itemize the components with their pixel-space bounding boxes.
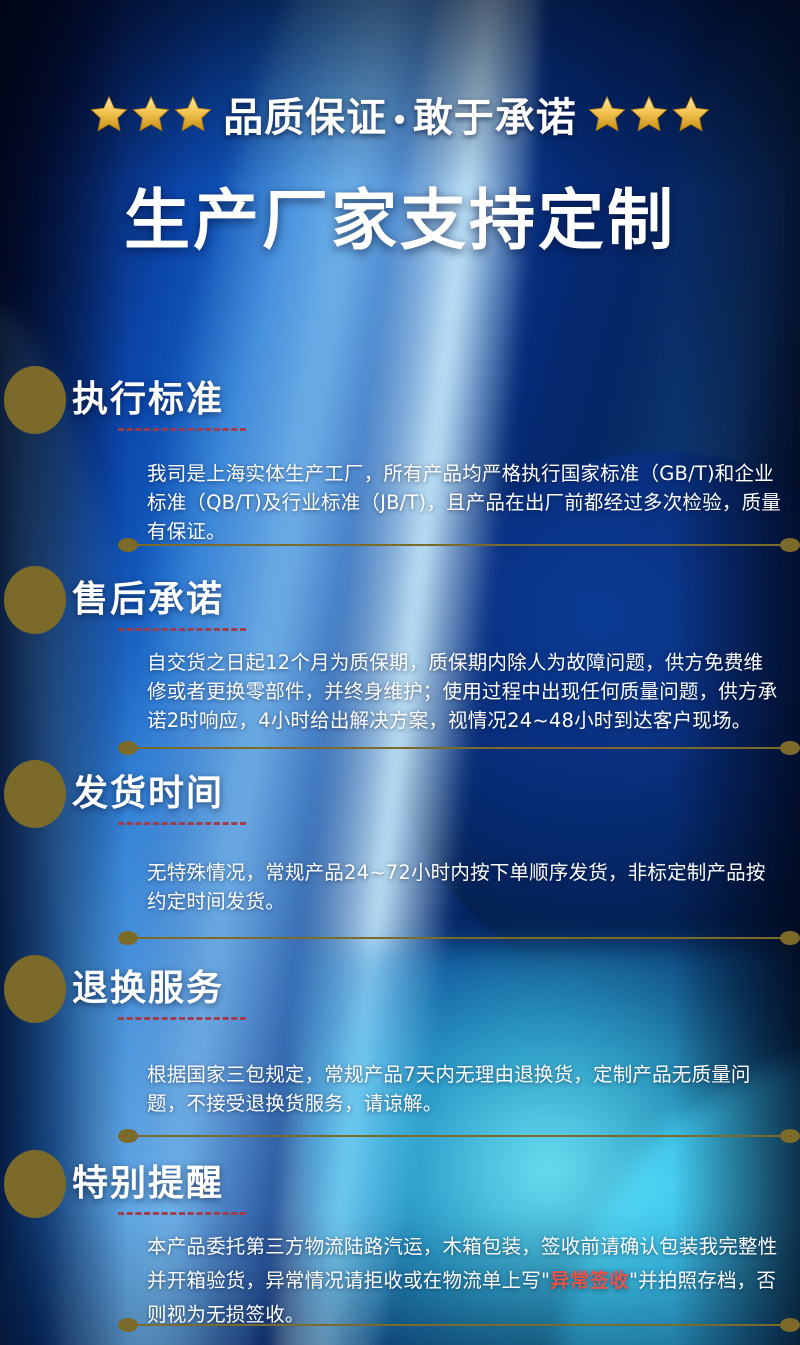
section-title: 执行标准 (72, 378, 224, 420)
section-bullet-circle (4, 955, 66, 1023)
divider-knob-right (780, 1129, 800, 1143)
section-body: 我司是上海实体生产工厂，所有产品均严格执行国家标准（GB/T)和企业标准（QB/… (147, 459, 781, 546)
section-title-underline (118, 428, 246, 431)
divider-bar (128, 937, 792, 939)
divider-bar (128, 1135, 792, 1137)
divider-bar (128, 1324, 792, 1326)
divider-bar (128, 747, 792, 749)
divider-bar (128, 544, 792, 546)
section-execution-standard: 执行标准 我司是上海实体生产工厂，所有产品均严格执行国家标准（GB/T)和企业标… (0, 366, 800, 556)
star-icon (587, 94, 627, 134)
star-icon (131, 94, 171, 134)
divider-knob-right (780, 538, 800, 552)
headline-left-text: 品质保证 (223, 94, 387, 141)
section-bullet-circle (4, 1150, 66, 1218)
section-title: 售后承诺 (72, 578, 224, 620)
section-title-underline (118, 628, 246, 631)
section-divider (0, 538, 800, 552)
divider-knob-right (780, 931, 800, 945)
stars-left-group (89, 94, 213, 134)
section-title: 发货时间 (72, 772, 224, 814)
headline-text: 品质保证•敢于承诺 (223, 85, 577, 143)
section-body: 根据国家三包规定，常规产品7天内无理由退换货，定制产品无质量问题，不接受退换货服… (147, 1060, 781, 1118)
section-divider (0, 1318, 800, 1332)
section-divider (0, 1129, 800, 1143)
section-after-sales-promise: 售后承诺 自交货之日起12个月为质保期，质保期内除人为故障问题，供方免费维修或者… (0, 566, 800, 766)
star-icon (89, 94, 129, 134)
section-bullet-circle (4, 760, 66, 828)
headline-row: 品质保证•敢于承诺 (0, 88, 800, 140)
section-special-notice: 特别提醒 本产品委托第三方物流陆路汽运，木箱包装，签收前请确认包装我完整性并开箱… (0, 1150, 800, 1330)
stars-right-group (587, 94, 711, 134)
section-bullet-circle (4, 366, 66, 434)
section-bullet-circle (4, 566, 66, 634)
section-body: 自交货之日起12个月为质保期，质保期内除人为故障问题，供方免费维修或者更换零部件… (147, 648, 781, 735)
section-shipping-time: 发货时间 无特殊情况，常规产品24~72小时内按下单顺序发货，非标定制产品按约定… (0, 760, 800, 940)
star-icon (629, 94, 669, 134)
headline-right-text: 敢于承诺 (413, 94, 577, 141)
section-body: 本产品委托第三方物流陆路汽运，木箱包装，签收前请确认包装我完整性并开箱验货，异常… (147, 1230, 781, 1332)
section-return-exchange: 退换服务 根据国家三包规定，常规产品7天内无理由退换货，定制产品无质量问题，不接… (0, 955, 800, 1140)
divider-knob-right (780, 741, 800, 755)
section-divider (0, 931, 800, 945)
section-title-underline (118, 822, 246, 825)
section-title-underline (118, 1017, 246, 1020)
divider-knob-right (780, 1318, 800, 1332)
star-icon (173, 94, 213, 134)
star-icon (671, 94, 711, 134)
headline-separator: • (391, 106, 409, 136)
poster-root: 品质保证•敢于承诺 生产厂家支持定制 执行标准 我司是上海实体生产工厂，所有产品… (0, 0, 800, 1345)
section-body: 无特殊情况，常规产品24~72小时内按下单顺序发货，非标定制产品按约定时间发货。 (147, 858, 781, 916)
section-title: 退换服务 (72, 967, 224, 1009)
section-divider (0, 741, 800, 755)
section-title-underline (118, 1212, 246, 1215)
section-title: 特别提醒 (72, 1162, 224, 1204)
notice-highlight: 异常签收 (550, 1269, 629, 1292)
page-title: 生产厂家支持定制 (0, 182, 800, 258)
